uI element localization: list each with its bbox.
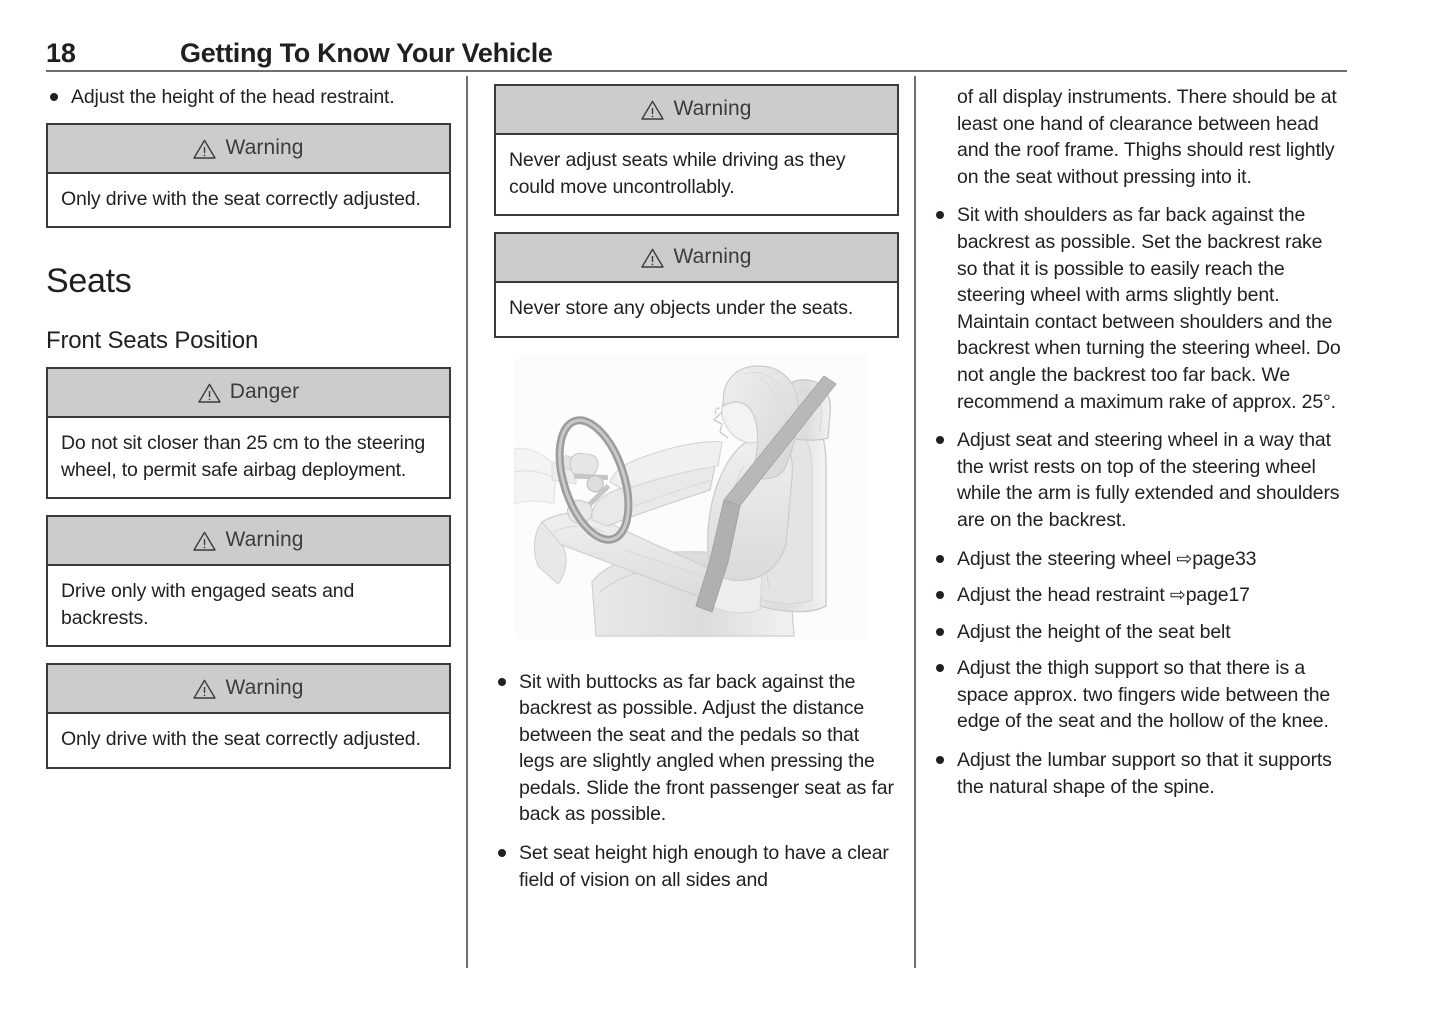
driver-seating-position-illustration (514, 354, 869, 639)
list-item-text: Adjust the thigh support so that there i… (957, 657, 1330, 732)
warning-triangle-icon (193, 679, 216, 699)
column-divider-right (914, 76, 916, 968)
danger-box-body: Do not sit closer than 25 cm to the stee… (48, 418, 449, 497)
warning-triangle-icon (198, 383, 221, 403)
page-number: 18 (46, 38, 76, 69)
danger-box-header: Danger (48, 369, 449, 418)
middle-column: Warning Never adjust seats while driving… (494, 84, 899, 905)
list-item-text: Sit with buttocks as far back against th… (519, 671, 894, 826)
chapter-title: Getting To Know Your Vehicle (180, 38, 553, 69)
list-item-text: Adjust the height of the seat belt (957, 621, 1231, 643)
warning-box-label: Warning (225, 676, 303, 700)
warning-box-header: Warning (496, 234, 897, 283)
warning-triangle-icon (193, 531, 216, 551)
bullet-dot (936, 756, 944, 764)
bullet-dot (936, 628, 944, 636)
warning-box-body: Never store any objects under the seats. (496, 283, 897, 336)
warning-box-body: Never adjust seats while driving as they… (496, 135, 897, 214)
warning-box-label: Warning (225, 528, 303, 552)
cross-reference-item[interactable]: Adjust the steering wheel ⇨page33 (932, 546, 1342, 573)
warning-box-body: Drive only with engaged seats and backre… (48, 566, 449, 645)
warning-box-header: Warning (48, 517, 449, 566)
warning-triangle-icon (641, 248, 664, 268)
danger-box: Danger Do not sit closer than 25 cm to t… (46, 367, 451, 499)
warning-box-label: Warning (225, 136, 303, 160)
warning-box-header: Warning (48, 665, 449, 714)
list-item-text: Sit with shoulders as far back against t… (957, 204, 1341, 412)
cross-reference-arrow-icon: ⇨ (1176, 549, 1192, 570)
section-heading: Seats (46, 262, 451, 301)
continuation-paragraph: of all display instruments. There should… (932, 84, 1342, 190)
bullet-dot (498, 849, 506, 857)
warning-box: Warning Drive only with engaged seats an… (46, 515, 451, 647)
bullet-dot (936, 664, 944, 672)
bullet-dot (498, 678, 506, 686)
bullet-dot (936, 436, 944, 444)
list-item: Adjust the height of the seat belt (932, 619, 1342, 646)
cross-reference-target[interactable]: page33 (1192, 548, 1256, 570)
warning-box-label: Warning (673, 245, 751, 269)
bullet-dot (936, 211, 944, 219)
warning-triangle-icon (193, 139, 216, 159)
bullet-dot (936, 591, 944, 599)
header-rule (46, 70, 1347, 72)
list-item: Sit with shoulders as far back against t… (932, 202, 1342, 415)
subsection-heading: Front Seats Position (46, 327, 451, 355)
list-item: Sit with buttocks as far back against th… (494, 669, 899, 829)
warning-box-body: Only drive with the seat correctly adjus… (48, 174, 449, 227)
cross-reference-arrow-icon: ⇨ (1170, 585, 1186, 606)
list-item-text: Adjust the height of the head restraint. (71, 86, 395, 108)
right-column: of all display instruments. There should… (932, 84, 1342, 812)
bullet-dot (936, 555, 944, 563)
list-item: Adjust the lumbar support so that it sup… (932, 747, 1342, 800)
cross-reference-target[interactable]: page17 (1186, 584, 1250, 606)
warning-box-label: Warning (673, 97, 751, 121)
list-item: Set seat height high enough to have a cl… (494, 840, 899, 893)
warning-box-header: Warning (496, 86, 897, 135)
warning-box-header: Warning (48, 125, 449, 174)
cross-reference-label: Adjust the head restraint (957, 584, 1170, 606)
list-item: Adjust seat and steering wheel in a way … (932, 427, 1342, 533)
left-column: Adjust the height of the head restraint.… (46, 84, 451, 785)
list-item-text: Set seat height high enough to have a cl… (519, 842, 889, 891)
warning-triangle-icon (641, 100, 664, 120)
list-item: Adjust the height of the head restraint. (46, 84, 451, 111)
bullet-dot (50, 93, 58, 101)
cross-reference-label: Adjust the steering wheel (957, 548, 1176, 570)
list-item: Adjust the thigh support so that there i… (932, 655, 1342, 735)
list-item-text: Adjust the lumbar support so that it sup… (957, 749, 1332, 798)
danger-box-label: Danger (230, 380, 299, 404)
warning-box: Warning Only drive with the seat correct… (46, 663, 451, 769)
cross-reference-item[interactable]: Adjust the head restraint ⇨page17 (932, 582, 1342, 609)
column-divider-left (466, 76, 468, 968)
warning-box: Warning Never adjust seats while driving… (494, 84, 899, 216)
list-item-text: Adjust seat and steering wheel in a way … (957, 429, 1339, 531)
warning-box: Warning Only drive with the seat correct… (46, 123, 451, 229)
warning-box-body: Only drive with the seat correctly adjus… (48, 714, 449, 767)
warning-box: Warning Never store any objects under th… (494, 232, 899, 338)
page-header: 18 Getting To Know Your Vehicle (46, 38, 1346, 72)
